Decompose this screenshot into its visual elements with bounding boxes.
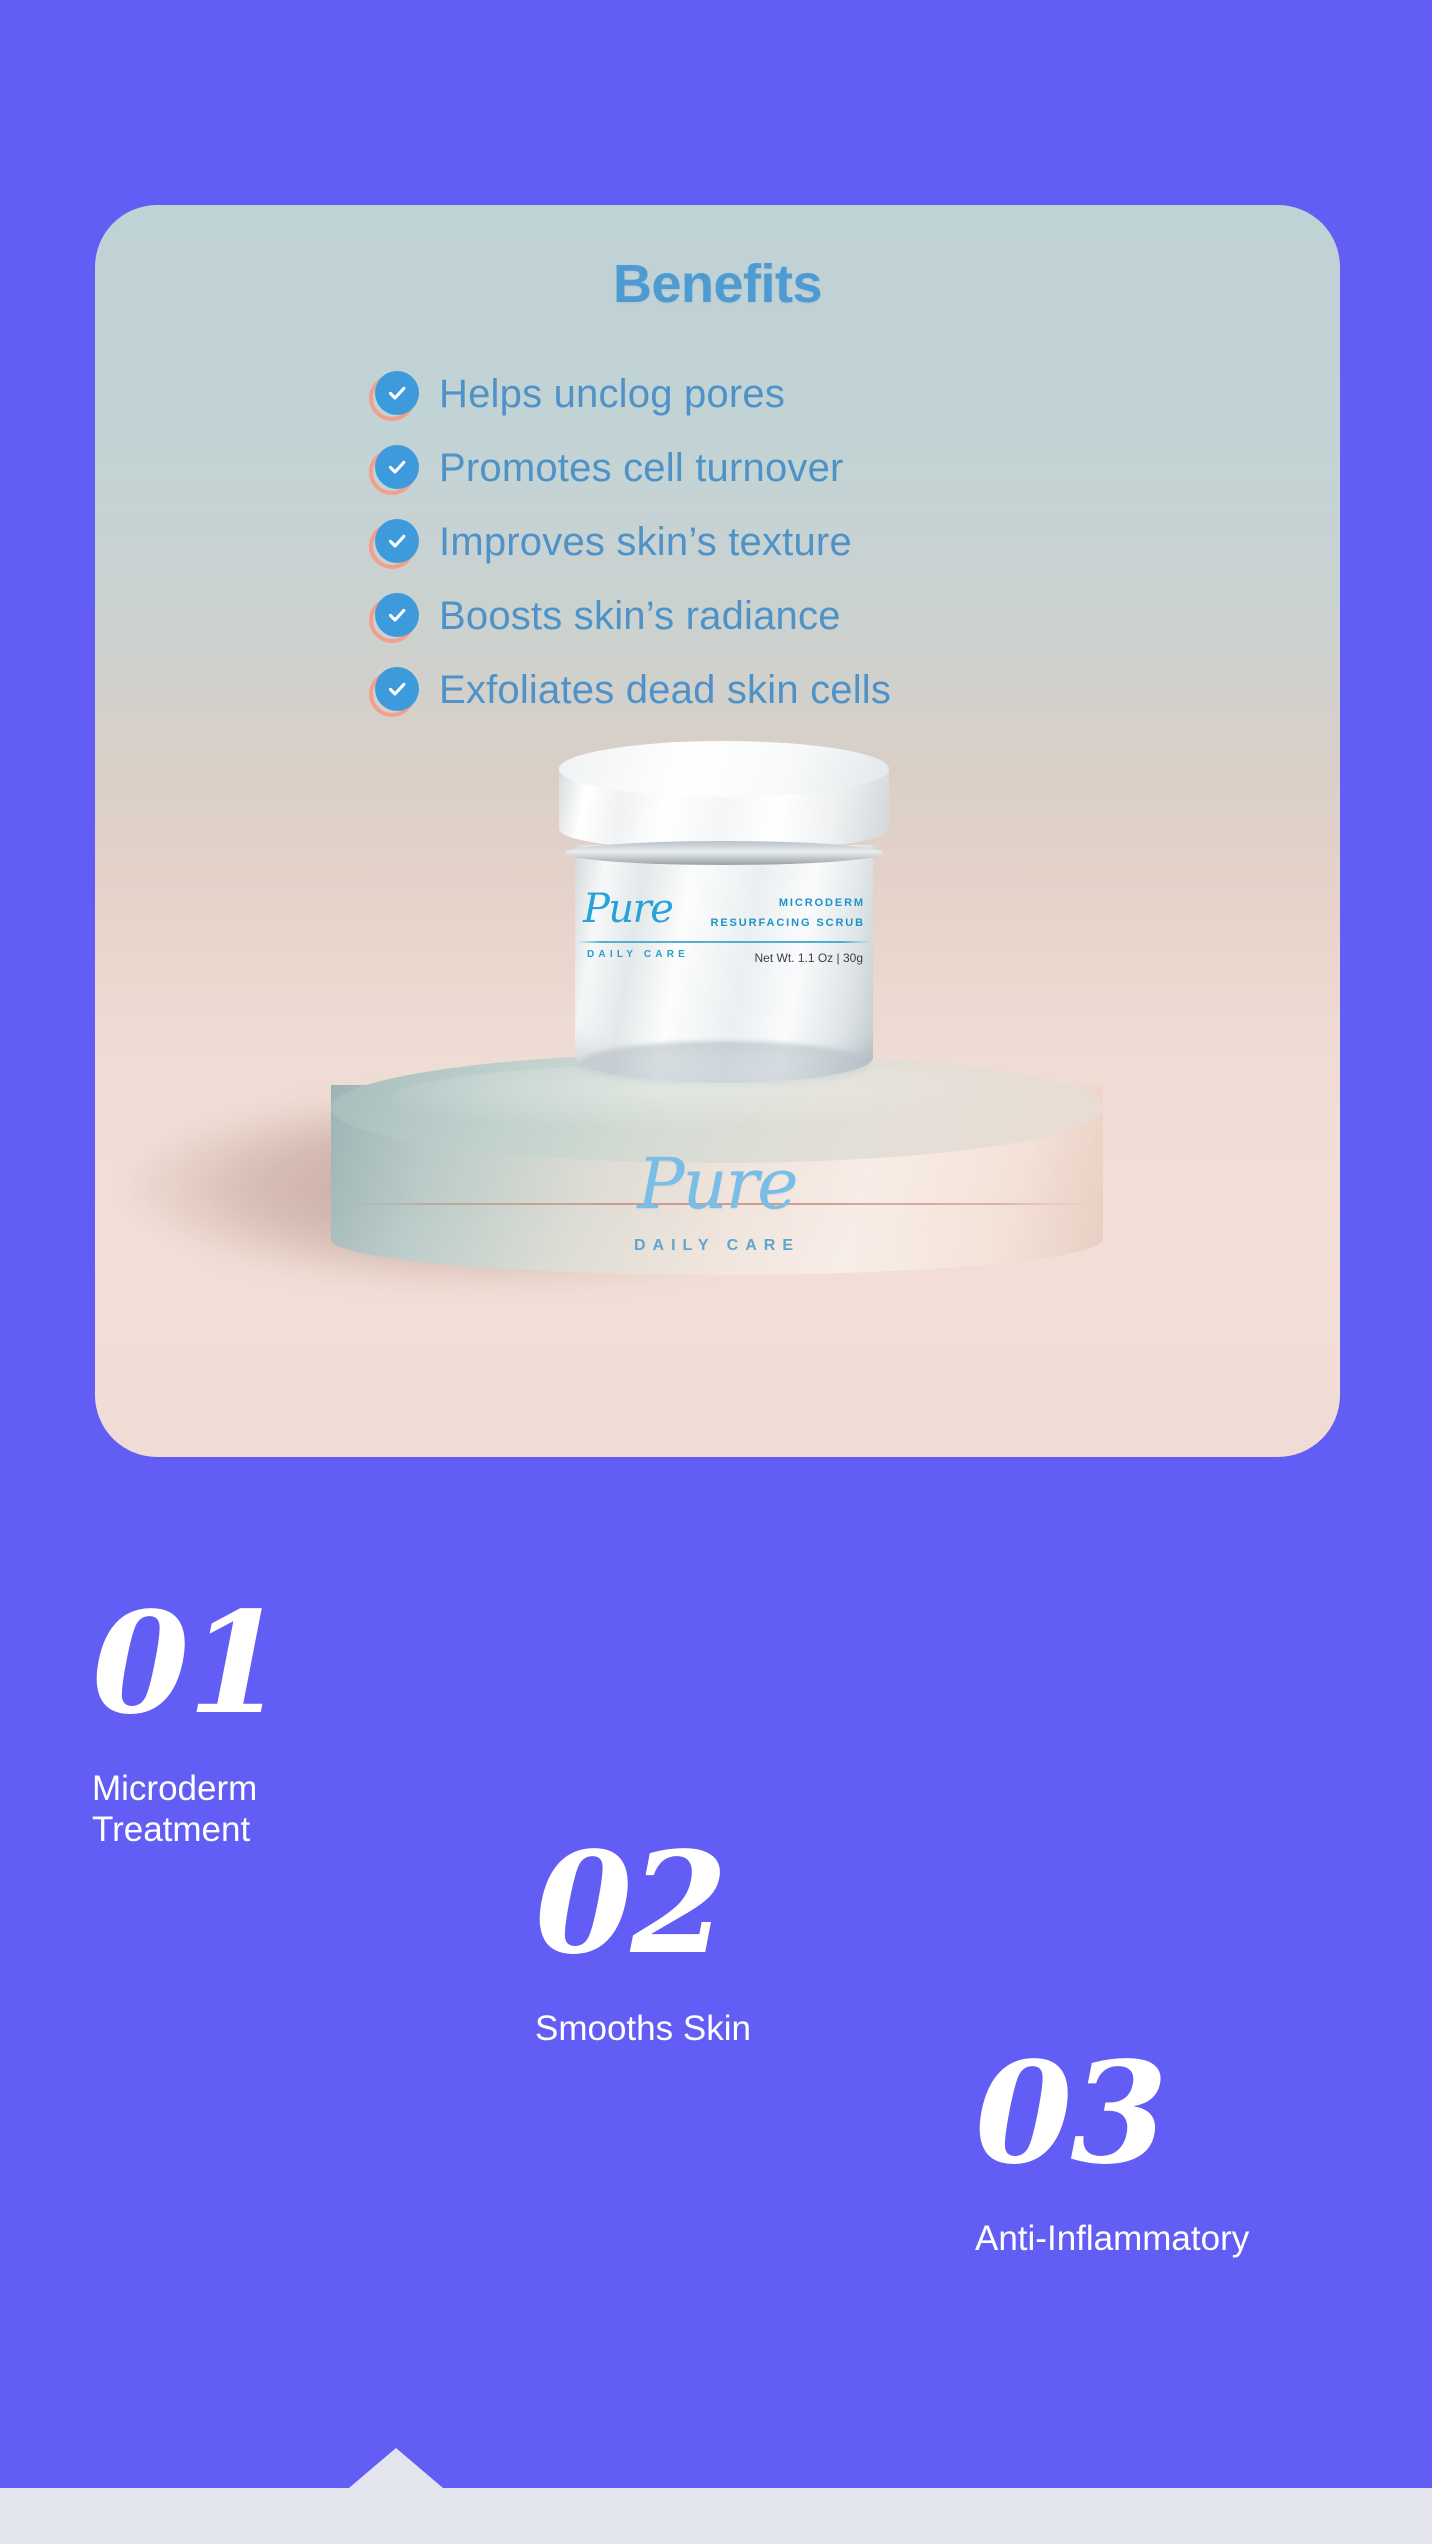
jar-net-weight: Net Wt. 1.1 Oz | 30g xyxy=(755,951,864,965)
benefits-title: Benefits xyxy=(95,253,1340,315)
benefit-label: Promotes cell turnover xyxy=(439,448,844,488)
jar-product-line-1: MICRODERM xyxy=(779,897,865,909)
feature-number: 02 xyxy=(535,1838,751,1971)
feature-number: 03 xyxy=(975,2048,1249,2181)
jar-lid-rim xyxy=(565,841,883,865)
bottom-bar-notch-icon xyxy=(349,2448,443,2488)
feature-item-03: 03 Anti-Inflammatory xyxy=(975,2048,1249,2260)
product-scene: Pure DAILY CARE Pure DAILY CARE MICRODER… xyxy=(95,717,1340,1457)
feature-item-01: 01 Microderm Treatment xyxy=(92,1598,283,1851)
benefits-list: Helps unclog pores Promotes cell turnove… xyxy=(95,367,1340,717)
benefit-item: Promotes cell turnover xyxy=(373,441,844,495)
jar-base-ellipse xyxy=(579,1041,869,1087)
podium-brand-name: Pure xyxy=(331,1149,1103,1219)
feature-caption: Anti-Inflammatory xyxy=(975,2219,1249,2260)
podium-branding: Pure DAILY CARE xyxy=(331,1149,1103,1255)
jar-product-line-2: RESURFACING SCRUB xyxy=(710,917,865,929)
bottom-bar xyxy=(0,2488,1432,2544)
check-disc xyxy=(375,371,419,415)
benefit-label: Boosts skin’s radiance xyxy=(439,596,841,636)
benefit-item: Improves skin’s texture xyxy=(373,515,852,569)
benefits-card: Benefits Helps unclog pores xyxy=(95,205,1340,1457)
jar-lid-top xyxy=(559,741,889,797)
check-disc xyxy=(375,519,419,563)
benefit-item: Exfoliates dead skin cells xyxy=(373,663,891,717)
benefit-label: Improves skin’s texture xyxy=(439,522,852,562)
check-circle-icon xyxy=(373,667,419,713)
check-circle-icon xyxy=(373,519,419,565)
check-circle-icon xyxy=(373,445,419,491)
check-disc xyxy=(375,445,419,489)
check-disc xyxy=(375,593,419,637)
feature-caption: Microderm Treatment xyxy=(92,1769,283,1851)
benefit-item: Boosts skin’s radiance xyxy=(373,589,841,643)
product-jar: Pure DAILY CARE MICRODERM RESURFACING SC… xyxy=(559,741,889,1101)
check-circle-icon xyxy=(373,593,419,639)
check-circle-icon xyxy=(373,371,419,417)
feature-item-02: 02 Smooths Skin xyxy=(535,1838,751,2050)
benefit-item: Helps unclog pores xyxy=(373,367,785,421)
feature-number: 01 xyxy=(92,1598,283,1731)
jar-brand-name: Pure xyxy=(583,889,672,929)
podium-brand-tagline: DAILY CARE xyxy=(331,1237,1103,1255)
jar-label-divider xyxy=(577,941,871,943)
feature-caption: Smooths Skin xyxy=(535,2009,751,2050)
jar-brand-tagline: DAILY CARE xyxy=(587,949,689,960)
check-disc xyxy=(375,667,419,711)
benefits-header: Benefits xyxy=(95,253,1340,315)
benefit-label: Exfoliates dead skin cells xyxy=(439,670,891,710)
jar-label: Pure DAILY CARE MICRODERM RESURFACING SC… xyxy=(575,893,873,985)
benefit-label: Helps unclog pores xyxy=(439,374,785,414)
